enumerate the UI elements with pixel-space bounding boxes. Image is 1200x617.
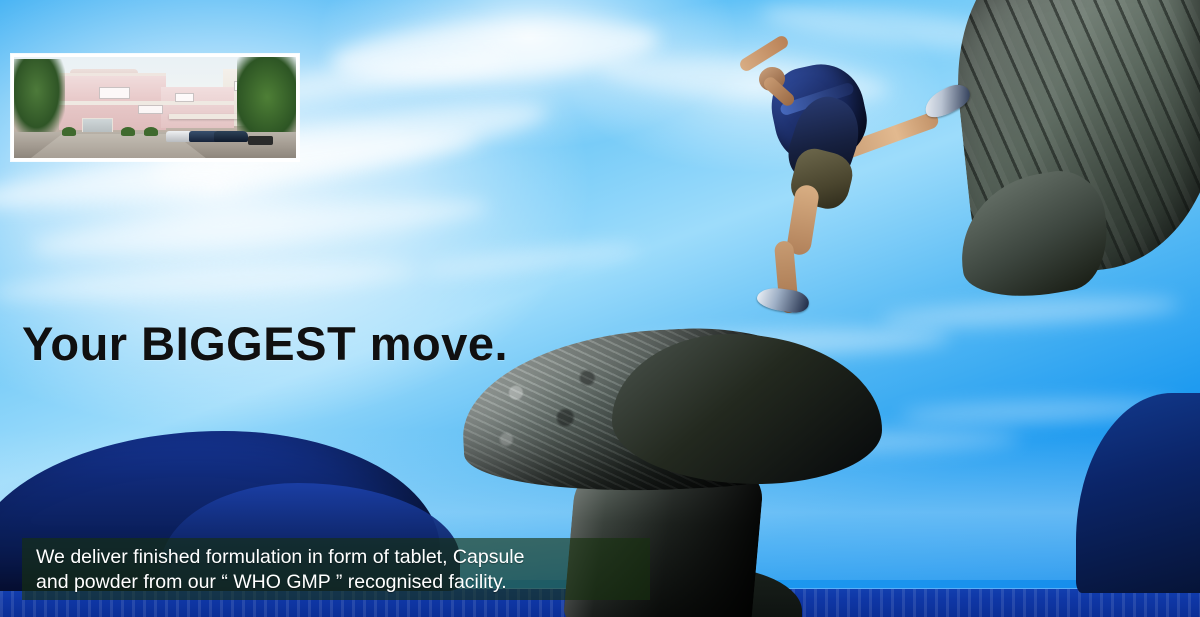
photo-shrub xyxy=(144,127,158,136)
banner-caption-bar: We deliver finished formulation in form … xyxy=(22,538,650,600)
facility-inset-photo[interactable] xyxy=(11,54,299,161)
photo-shrub xyxy=(121,127,135,136)
rock-cap-shadow xyxy=(612,334,882,484)
photo-window xyxy=(175,93,195,102)
photo-window xyxy=(138,105,163,113)
photo-shrub xyxy=(62,127,76,136)
photo-parked-car xyxy=(214,131,248,142)
rock-texture xyxy=(469,354,625,472)
photo-window xyxy=(99,87,130,99)
caption-line-1: We deliver finished formulation in form … xyxy=(36,545,650,570)
facility-photo-image xyxy=(14,57,296,158)
hero-banner: Your BIGGEST move. We deliver finished f… xyxy=(0,0,1200,617)
caption-line-2: and powder from our “ WHO GMP ” recognis… xyxy=(36,570,650,595)
photo-building-wing xyxy=(161,87,234,127)
photo-motorcycle xyxy=(248,136,273,145)
banner-headline: Your BIGGEST move. xyxy=(22,316,508,371)
leaping-man-figure xyxy=(735,45,965,305)
